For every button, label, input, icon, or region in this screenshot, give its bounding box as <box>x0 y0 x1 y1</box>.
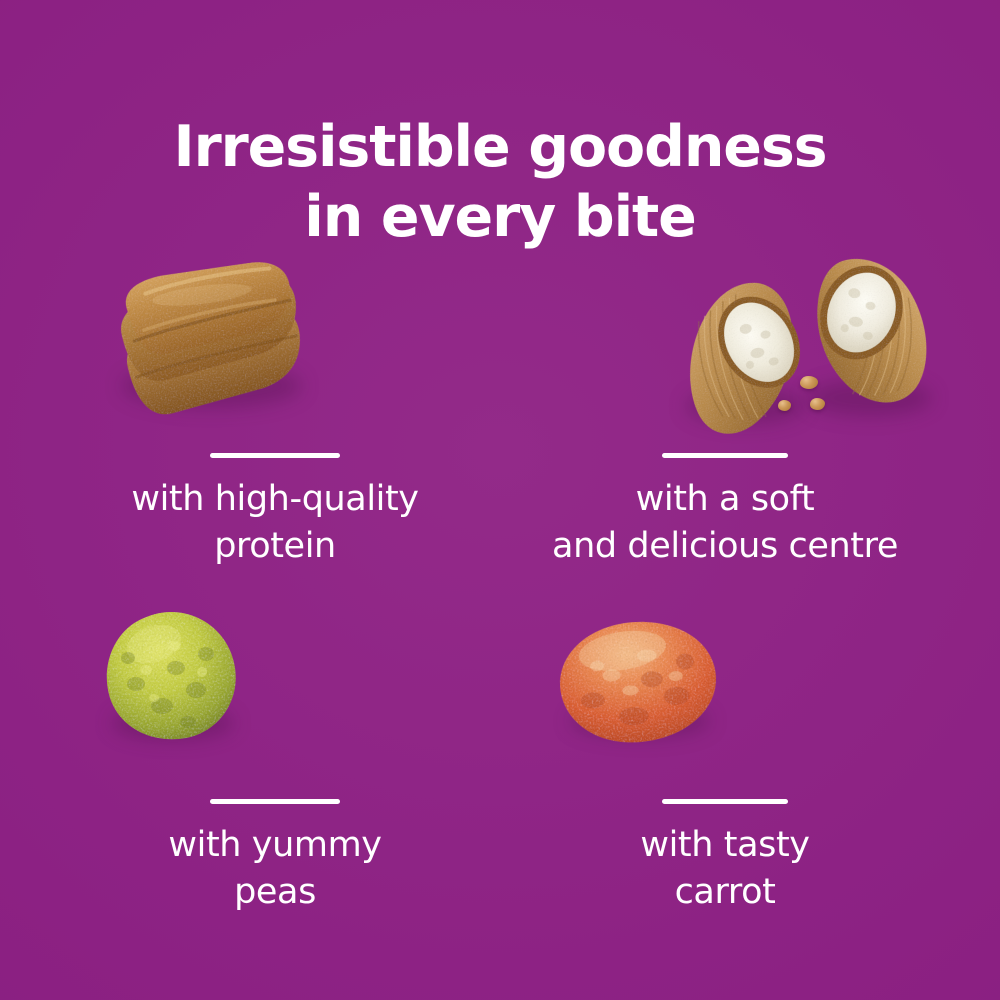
feature-item-tasty-carrot: with tasty carrot <box>500 594 950 934</box>
split-kibble-image <box>500 248 950 444</box>
feature-divider <box>210 453 340 458</box>
feature-grid: with high-quality protein <box>50 248 950 938</box>
pea-kibble-graphic <box>102 610 240 742</box>
caption-line-1: with yummy <box>50 822 500 869</box>
page-title: Irresistible goodness in every bite <box>0 112 1000 252</box>
carrot-kibble-graphic <box>555 616 721 748</box>
pea-kibble-image <box>50 594 500 790</box>
caption-line-1: with tasty <box>500 822 950 869</box>
caption-line-2: peas <box>50 869 500 916</box>
feature-divider <box>662 799 788 804</box>
feature-item-high-quality-protein: with high-quality protein <box>50 248 500 588</box>
headline-line-2: in every bite <box>0 182 1000 252</box>
caption-line-2: protein <box>50 523 500 570</box>
split-kibble-right-half <box>788 246 949 424</box>
feature-divider <box>210 799 340 804</box>
feature-caption: with yummy peas <box>50 822 500 916</box>
feature-caption: with a soft and delicious centre <box>500 476 950 570</box>
protein-kibble-graphic <box>103 256 320 431</box>
carrot-kibble-image <box>500 594 950 790</box>
caption-line-2: carrot <box>500 869 950 916</box>
caption-line-2: and delicious centre <box>500 523 950 570</box>
caption-line-1: with high-quality <box>50 476 500 523</box>
protein-kibble-image <box>50 248 500 444</box>
feature-item-soft-delicious-centre: with a soft and delicious centre <box>500 248 950 588</box>
caption-line-1: with a soft <box>500 476 950 523</box>
headline-line-1: Irresistible goodness <box>0 112 1000 182</box>
feature-divider <box>662 453 788 458</box>
feature-caption: with tasty carrot <box>500 822 950 916</box>
product-feature-panel: Irresistible goodness in every bite <box>0 0 1000 1000</box>
feature-item-yummy-peas: with yummy peas <box>50 594 500 934</box>
feature-caption: with high-quality protein <box>50 476 500 570</box>
